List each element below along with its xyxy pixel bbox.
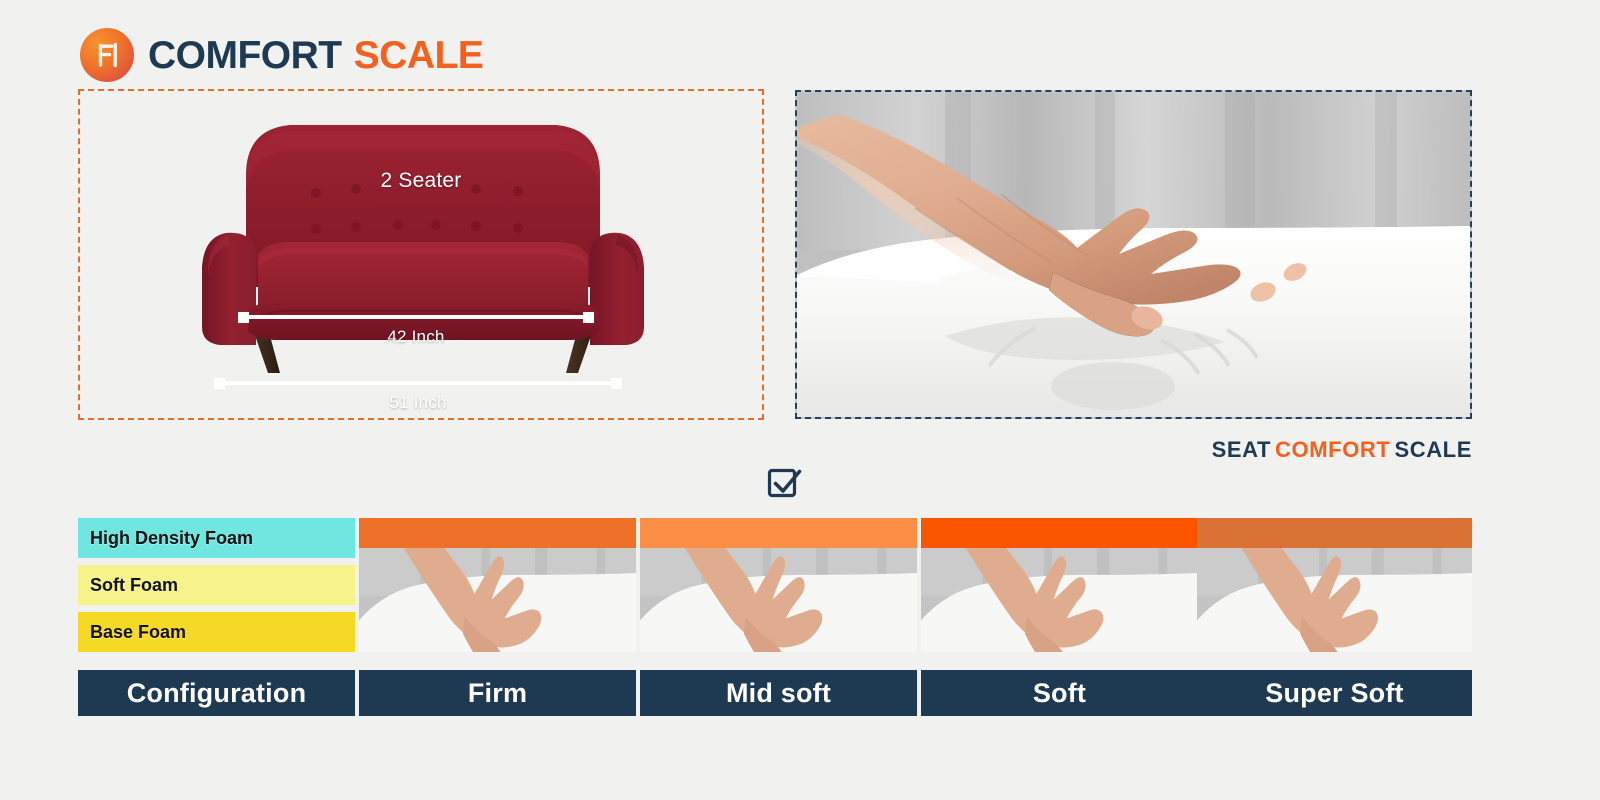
label-text: Mid soft bbox=[726, 678, 831, 709]
foam-layer-legend: High Density Foam Soft Foam Base Foam bbox=[78, 518, 355, 652]
foam-layer-label: Base Foam bbox=[90, 622, 186, 643]
option-thumbnail bbox=[640, 548, 917, 652]
label-text: Firm bbox=[468, 678, 527, 709]
label-text: Configuration bbox=[127, 678, 307, 709]
firmness-bar bbox=[640, 518, 917, 548]
foam-layer-label: High Density Foam bbox=[90, 528, 253, 549]
foam-layer-soft: Soft Foam bbox=[78, 565, 355, 605]
seat-comfort-photo-panel bbox=[795, 90, 1472, 419]
hand-on-foam-photo bbox=[795, 90, 1472, 419]
caption-scale: SCALE bbox=[1394, 437, 1472, 462]
seat-comfort-scale-caption: SEATCOMFORTSCALE bbox=[1212, 437, 1472, 463]
sofa-stage: 2 Seater 42 Inch 51 Inch bbox=[80, 91, 762, 418]
foam-layer-high-density: High Density Foam bbox=[78, 518, 355, 558]
fi-monogram-logo-icon bbox=[80, 28, 134, 82]
overall-width-label: 51 Inch bbox=[216, 393, 620, 413]
comfort-scale-grid: High Density Foam Soft Foam Base Foam bbox=[78, 518, 1472, 718]
caption-seat: SEAT bbox=[1212, 437, 1271, 462]
option-thumbnail bbox=[1197, 548, 1472, 652]
comfort-option-firm[interactable] bbox=[359, 518, 636, 652]
label-text: Soft bbox=[1033, 678, 1086, 709]
firmness-bar bbox=[921, 518, 1198, 548]
label-text: Super Soft bbox=[1265, 678, 1404, 709]
label-configuration: Configuration bbox=[78, 670, 355, 716]
hand-on-foam-thumbnail bbox=[1197, 548, 1472, 652]
label-mid-soft[interactable]: Mid soft bbox=[640, 670, 917, 716]
option-thumbnail bbox=[359, 548, 636, 652]
option-thumbnail bbox=[921, 548, 1198, 652]
firmness-bar bbox=[359, 518, 636, 548]
dimension-cap-left bbox=[238, 312, 249, 323]
seater-label: 2 Seater bbox=[80, 169, 762, 193]
page-title-comfort: COMFORT bbox=[148, 34, 342, 77]
dimension-line bbox=[216, 381, 620, 385]
comfort-option-mid-soft[interactable] bbox=[640, 518, 917, 652]
caption-comfort: COMFORT bbox=[1275, 437, 1390, 462]
page-title: COMFORTSCALE bbox=[148, 36, 483, 75]
firmness-bar bbox=[1197, 518, 1472, 548]
page-title-scale: SCALE bbox=[354, 34, 484, 77]
selected-comfort-checkbox[interactable] bbox=[765, 463, 803, 501]
dimension-line bbox=[240, 315, 592, 319]
label-soft[interactable]: Soft bbox=[921, 670, 1198, 716]
comfort-option-soft[interactable] bbox=[921, 518, 1198, 652]
label-firm[interactable]: Firm bbox=[359, 670, 636, 716]
page-header: COMFORTSCALE bbox=[80, 28, 483, 82]
dimension-cap-right bbox=[583, 312, 594, 323]
label-super-soft[interactable]: Super Soft bbox=[1197, 670, 1472, 716]
foam-layer-base: Base Foam bbox=[78, 612, 355, 652]
sofa-dimensions-panel: 2 Seater 42 Inch 51 Inch bbox=[78, 89, 764, 420]
hand-on-foam-thumbnail bbox=[921, 548, 1198, 652]
hand-on-foam-thumbnail bbox=[359, 548, 636, 652]
checked-checkbox-icon bbox=[765, 463, 803, 501]
foam-layer-label: Soft Foam bbox=[90, 575, 178, 596]
comfort-option-super-soft[interactable] bbox=[1197, 518, 1472, 652]
dimension-cap-right bbox=[611, 378, 622, 389]
sofa-illustration bbox=[188, 105, 658, 395]
hand-on-foam-thumbnail bbox=[640, 548, 917, 652]
seat-width-label: 42 Inch bbox=[240, 327, 592, 347]
comfort-label-row: Configuration Firm Mid soft Soft Super S… bbox=[78, 670, 1472, 716]
dimension-cap-left bbox=[214, 378, 225, 389]
